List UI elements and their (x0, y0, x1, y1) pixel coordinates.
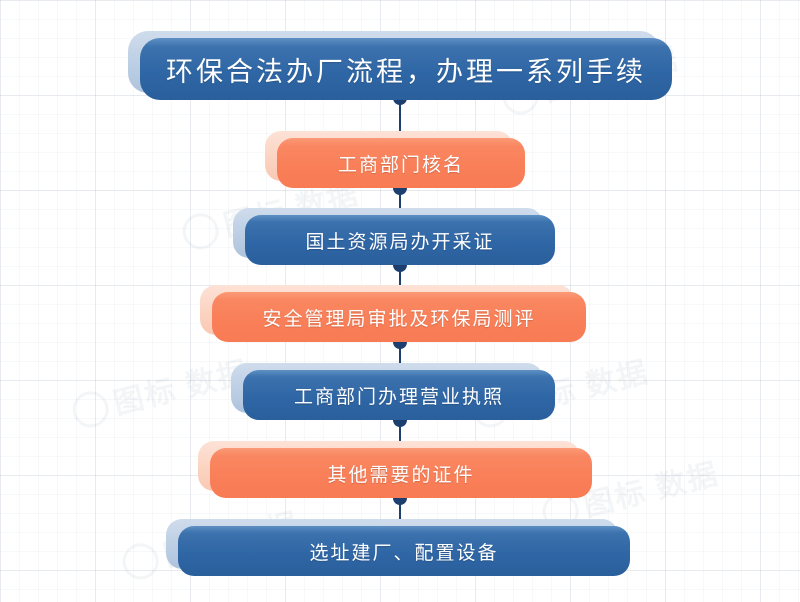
watermark-ring-icon (179, 210, 223, 254)
step-label-1: 工商部门核名 (338, 150, 464, 177)
flowchart-step-5[interactable]: 其他需要的证件 (210, 448, 592, 498)
watermark-ring-icon (119, 540, 163, 584)
flowchart-step-6[interactable]: 选址建厂、配置设备 (178, 526, 630, 576)
step-label-5: 其他需要的证件 (327, 460, 474, 487)
watermark-text: 图标 数据 (580, 458, 722, 523)
step-label-6: 选址建厂、配置设备 (309, 538, 498, 565)
flowchart-step-2[interactable]: 国土资源局办开采证 (245, 215, 555, 265)
flowchart-step-1[interactable]: 工商部门核名 (277, 138, 525, 188)
flowchart-step-4[interactable]: 工商部门办理营业执照 (243, 370, 555, 420)
watermark: 图标 数据 (67, 347, 253, 433)
flowchart-canvas: 图标 数据 图标 数据 图标 数据 图标 数据 图标 数据 图标 数据 环保合法… (0, 0, 800, 602)
page-title: 环保合法办厂流程，办理一系列手续 (166, 50, 646, 89)
step-label-4: 工商部门办理营业执照 (294, 382, 504, 409)
flowchart-step-3[interactable]: 安全管理局审批及环保局测评 (212, 292, 586, 342)
step-label-3: 安全管理局审批及环保局测评 (262, 304, 535, 331)
watermark-ring-icon (69, 388, 113, 432)
step-label-2: 国土资源局办开采证 (305, 227, 494, 254)
flowchart-title-node[interactable]: 环保合法办厂流程，办理一系列手续 (140, 38, 672, 100)
